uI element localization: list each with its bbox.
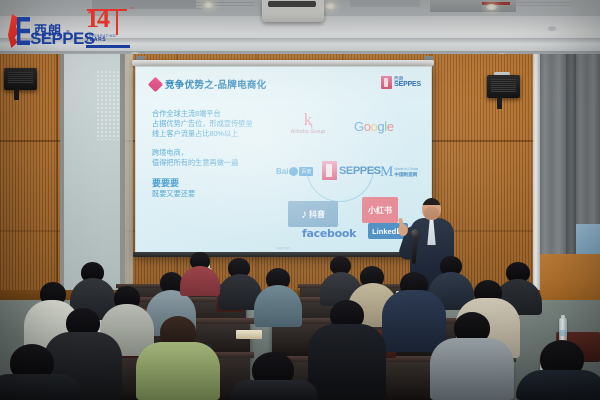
linkedin-label: Linked — [372, 227, 396, 236]
trademark-mark: TM — [130, 6, 134, 10]
brand-name-en-wrap: SEPPES — [30, 30, 94, 47]
screen-bottom-bar — [133, 252, 432, 257]
audience-body — [230, 380, 318, 400]
made-in-china-logo: M Made-in-China 中国制造网 — [380, 165, 418, 180]
made-in-china-label-cn: 中国制造网 — [394, 172, 418, 177]
glass-dot-pattern — [96, 70, 122, 140]
baidu-label-en: Bai — [276, 167, 288, 176]
douyin-tiktok-logo: ♪ 抖音 — [288, 201, 338, 227]
seppes-label: SEPPES — [339, 165, 381, 177]
slide-text-line: 值得把所有的生意再做一遍 — [152, 158, 272, 168]
google-logo: Google — [354, 119, 394, 134]
window-curtain-b[interactable] — [566, 54, 576, 264]
slide-title-row: 竞争优势之-品牌电商化 — [150, 77, 266, 91]
slide-text-emphasis: 要要要 — [152, 177, 272, 189]
google-letter: o — [371, 119, 378, 134]
alibaba-mark-icon: ⱪ — [304, 111, 313, 128]
ceiling-duct — [430, 0, 516, 12]
baidu-logo: Bai 百度 — [276, 167, 313, 176]
anniversary-underline — [86, 45, 130, 48]
slide-text-line: 占据优势广告位，形成宣传壁垒 — [152, 119, 272, 129]
slide-paragraph: 合作全球主流8端平台 占据优势广告位，形成宣传壁垒 线上客户流量占比80%以上 — [152, 109, 272, 139]
douyin-label: 抖音 — [309, 209, 325, 220]
slide-corner-logo: 西朗 SEPPES — [381, 76, 421, 89]
slide-logo-en: SEPPES — [394, 81, 421, 88]
seppes-mark-icon — [381, 76, 392, 89]
audience-body — [308, 324, 386, 400]
ceiling-downlight — [486, 4, 497, 10]
slide-paragraph: 要要要 既要又要还要 — [152, 177, 272, 199]
slide-footer-note: SEPPES — [276, 246, 290, 250]
glass-pane-edge — [125, 54, 133, 310]
brand-name-en: SEPPES — [30, 30, 94, 47]
anniversary-line-2: YEARS — [86, 38, 132, 44]
google-letter: g — [377, 119, 384, 134]
projection-screen: 竞争优势之-品牌电商化 西朗 SEPPES 合作全球主流8端平台 占据优势广告位… — [135, 66, 432, 256]
diamond-bullet-icon — [148, 76, 164, 92]
presentation-slide: 竞争优势之-品牌电商化 西朗 SEPPES 合作全球主流8端平台 占据优势广告位… — [136, 67, 431, 255]
baidu-label-cn: 百度 — [299, 167, 313, 176]
ceiling-projector — [262, 0, 324, 22]
window-curtain-c[interactable] — [576, 54, 600, 232]
google-letter: G — [354, 119, 364, 134]
lion-mark-icon — [8, 14, 30, 48]
audience-body — [516, 370, 600, 400]
speaker-mount-left — [14, 89, 19, 100]
seppes-logo: SEPPES — [322, 161, 381, 180]
alibaba-label: Alibaba Group — [291, 129, 326, 135]
wall-speaker-left — [4, 68, 37, 90]
conference-presentation-photo: 竞争优势之-品牌电商化 西朗 SEPPES 合作全球主流8端平台 占据优势广告位… — [0, 0, 600, 400]
ceiling-downlight — [203, 2, 214, 8]
audience-body — [382, 290, 446, 352]
audience-body — [136, 342, 220, 400]
audience-body — [254, 285, 302, 327]
wall-speaker-right — [487, 75, 520, 98]
speaker-mount-right — [497, 97, 502, 109]
seppes-mark-icon — [322, 161, 337, 180]
slide-text-line: 既要又要还要 — [152, 189, 272, 199]
alibaba-group-logo: ⱪ Alibaba Group — [280, 111, 336, 135]
made-in-china-mark-icon: M — [380, 165, 393, 180]
audience-body — [430, 338, 514, 400]
facebook-logo: facebook — [302, 227, 356, 240]
ceiling-spot — [548, 26, 556, 31]
slide-text-line: 合作全球主流8端平台 — [152, 109, 272, 119]
audience-body — [0, 374, 82, 400]
music-note-icon: ♪ — [301, 208, 307, 220]
slide-paragraph: 跨境电商， 值得把所有的生意再做一遍 — [152, 148, 272, 168]
slide-body-text: 合作全球主流8端平台 占据优势广告位，形成宣传壁垒 线上客户流量占比80%以上 … — [152, 109, 272, 208]
ceiling-downlight — [325, 3, 336, 9]
xiaohongshu-logo: 小红书 — [362, 197, 398, 223]
anniversary-badge: 14 TM CELEBRATING YEARS — [86, 6, 132, 48]
window-curtain-a[interactable] — [540, 54, 566, 254]
xiaohongshu-label: 小红书 — [368, 205, 392, 216]
google-letter: e — [387, 119, 394, 134]
slide-text-line: 跨境电商， — [152, 148, 272, 158]
slide-text-line: 线上客户流量占比80%以上 — [152, 129, 272, 139]
desk-item-papers — [236, 330, 262, 339]
wall-pillar-right — [533, 54, 540, 310]
google-letter: o — [364, 119, 371, 134]
baidu-paw-icon — [289, 167, 298, 176]
slide-title: 竞争优势之-品牌电商化 — [165, 77, 266, 91]
